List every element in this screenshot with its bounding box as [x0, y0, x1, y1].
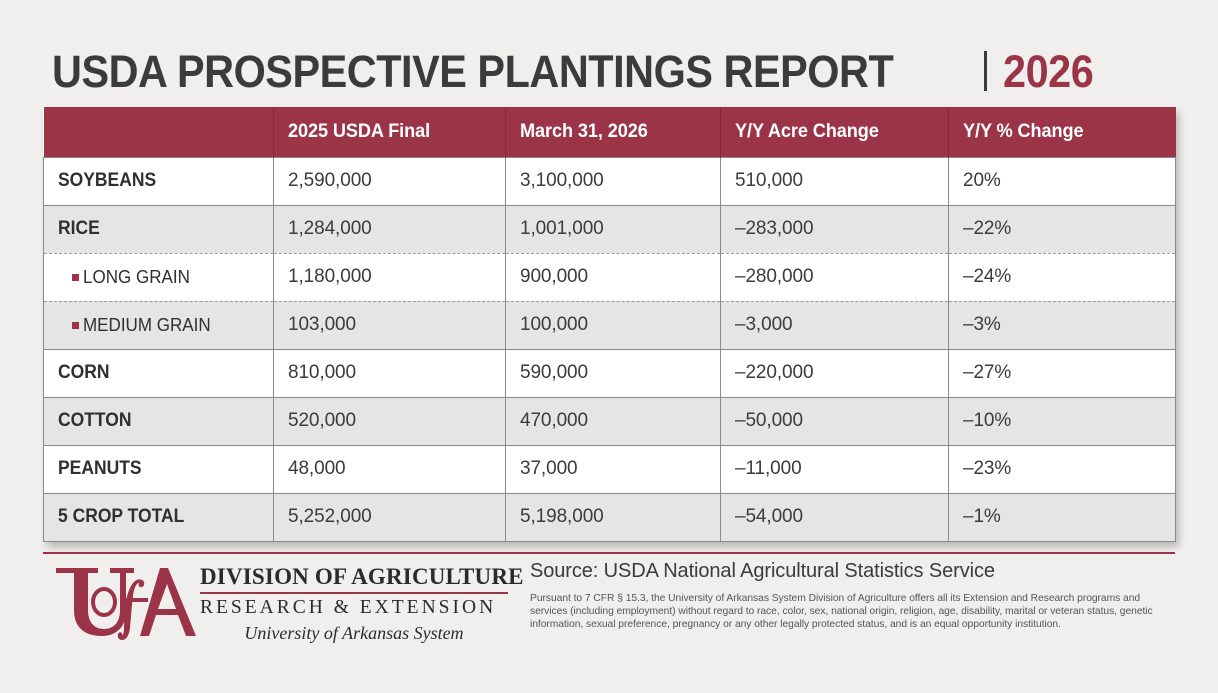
cell-final-2025: 810,000	[274, 349, 506, 397]
page-title-year: 2026	[1003, 49, 1093, 94]
row-label: CORN	[58, 362, 109, 384]
row-label-cell: MEDIUM GRAIN	[44, 301, 274, 349]
cell-pct-change: –27%	[949, 349, 1176, 397]
cell-final-2025: 1,180,000	[274, 253, 506, 301]
column-header-acre-change-label: Y/Y Acre Change	[735, 120, 879, 143]
cell-value: 1,001,000	[520, 218, 604, 240]
cell-value: 1,284,000	[288, 218, 372, 240]
logo-research-line: RESEARCH & EXTENSION	[200, 597, 510, 619]
table-header-row: 2025 USDA Final March 31, 2026 Y/Y Acre …	[44, 107, 1176, 157]
cell-value: –24%	[963, 266, 1011, 288]
cell-value: 1,180,000	[288, 266, 372, 288]
page-title: USDA PROSPECTIVE PLANTINGS REPORT 2026	[52, 44, 1172, 98]
logo-system-line: University of Arkansas System	[200, 623, 508, 644]
cell-value: 810,000	[288, 362, 356, 384]
source-line: Source: USDA National Agricultural Stati…	[530, 560, 1170, 583]
row-label: RICE	[58, 218, 100, 240]
cell-value: –283,000	[735, 218, 813, 240]
table-row: CORN 810,000 590,000 –220,000 –27%	[44, 349, 1176, 397]
cell-march-2026: 100,000	[506, 301, 721, 349]
cell-final-2025: 1,284,000	[274, 205, 506, 253]
cell-value: 2,590,000	[288, 170, 372, 192]
cell-value: –27%	[963, 362, 1011, 384]
cell-value: 5,198,000	[520, 506, 604, 528]
cell-value: 470,000	[520, 410, 588, 432]
cell-final-2025: 48,000	[274, 445, 506, 493]
cell-value: 20%	[963, 170, 1001, 192]
cell-value: 590,000	[520, 362, 588, 384]
cell-march-2026: 5,198,000	[506, 493, 721, 541]
row-label: 5 CROP TOTAL	[58, 506, 184, 528]
bullet-square-icon	[72, 274, 79, 281]
row-label: MEDIUM GRAIN	[83, 314, 211, 336]
cell-pct-change: –10%	[949, 397, 1176, 445]
table-row: SOYBEANS 2,590,000 3,100,000 510,000 20%	[44, 157, 1176, 205]
cell-value: –3,000	[735, 314, 793, 336]
table-row: PEANUTS 48,000 37,000 –11,000 –23%	[44, 445, 1176, 493]
cell-pct-change: –22%	[949, 205, 1176, 253]
cell-final-2025: 520,000	[274, 397, 506, 445]
row-label-cell: RICE	[44, 205, 274, 253]
column-header-pct-change-label: Y/Y % Change	[963, 120, 1083, 143]
cell-pct-change: –23%	[949, 445, 1176, 493]
uofa-logo: DIVISION OF AGRICULTURE RESEARCH & EXTEN…	[50, 560, 510, 645]
row-label-cell: SOYBEANS	[44, 157, 274, 205]
cell-value: –220,000	[735, 362, 813, 384]
cell-value: –11,000	[735, 458, 802, 480]
cell-acre-change: –283,000	[721, 205, 949, 253]
cell-value: –22%	[963, 218, 1011, 240]
logo-rule	[200, 592, 508, 594]
cell-value: –23%	[963, 458, 1011, 480]
row-label-cell: CORN	[44, 349, 274, 397]
cell-value: –54,000	[735, 506, 803, 528]
row-label-cell: COTTON	[44, 397, 274, 445]
row-label-cell: LONG GRAIN	[44, 253, 274, 301]
column-header-march-2026: March 31, 2026	[506, 107, 721, 157]
source-and-disclaimer: Source: USDA National Agricultural Stati…	[530, 560, 1170, 632]
row-label: SOYBEANS	[58, 170, 156, 192]
column-header-crop	[44, 107, 274, 157]
column-header-final-2025-label: 2025 USDA Final	[288, 120, 430, 143]
cell-pct-change: –24%	[949, 253, 1176, 301]
cell-value: –10%	[963, 410, 1011, 432]
cell-pct-change: 20%	[949, 157, 1176, 205]
page-title-main: USDA PROSPECTIVE PLANTINGS REPORT	[52, 49, 893, 94]
cell-march-2026: 900,000	[506, 253, 721, 301]
table-header: 2025 USDA Final March 31, 2026 Y/Y Acre …	[44, 107, 1176, 157]
cell-value: 900,000	[520, 266, 588, 288]
cell-value: –280,000	[735, 266, 813, 288]
cell-final-2025: 103,000	[274, 301, 506, 349]
cell-value: 5,252,000	[288, 506, 372, 528]
cell-final-2025: 5,252,000	[274, 493, 506, 541]
cell-value: 103,000	[288, 314, 356, 336]
cell-march-2026: 470,000	[506, 397, 721, 445]
row-label-cell: 5 CROP TOTAL	[44, 493, 274, 541]
row-label: LONG GRAIN	[83, 266, 190, 288]
cell-value: 37,000	[520, 458, 578, 480]
column-header-acre-change: Y/Y Acre Change	[721, 107, 949, 157]
report-table: 2025 USDA Final March 31, 2026 Y/Y Acre …	[43, 107, 1176, 542]
cell-acre-change: –11,000	[721, 445, 949, 493]
uofa-logo-text: DIVISION OF AGRICULTURE RESEARCH & EXTEN…	[200, 564, 510, 644]
bullet-square-icon	[72, 322, 79, 329]
table-row: LONG GRAIN 1,180,000 900,000 –280,000 –2…	[44, 253, 1176, 301]
cell-final-2025: 2,590,000	[274, 157, 506, 205]
column-header-pct-change: Y/Y % Change	[949, 107, 1176, 157]
cell-march-2026: 1,001,000	[506, 205, 721, 253]
cell-value: –3%	[963, 314, 1001, 336]
row-label-cell: PEANUTS	[44, 445, 274, 493]
cell-value: –1%	[963, 506, 1001, 528]
cell-acre-change: –220,000	[721, 349, 949, 397]
cell-value: 3,100,000	[520, 170, 604, 192]
cell-acre-change: 510,000	[721, 157, 949, 205]
row-label: COTTON	[58, 410, 131, 432]
cell-value: 510,000	[735, 170, 803, 192]
cell-acre-change: –280,000	[721, 253, 949, 301]
row-label: PEANUTS	[58, 458, 142, 480]
table-row: RICE 1,284,000 1,001,000 –283,000 –22%	[44, 205, 1176, 253]
table-body: SOYBEANS 2,590,000 3,100,000 510,000 20%…	[44, 157, 1176, 541]
cell-pct-change: –1%	[949, 493, 1176, 541]
report-table-container: 2025 USDA Final March 31, 2026 Y/Y Acre …	[43, 107, 1175, 542]
cell-acre-change: –50,000	[721, 397, 949, 445]
table-row: COTTON 520,000 470,000 –50,000 –10%	[44, 397, 1176, 445]
column-header-final-2025: 2025 USDA Final	[274, 107, 506, 157]
cell-march-2026: 590,000	[506, 349, 721, 397]
column-header-march-2026-label: March 31, 2026	[520, 120, 648, 143]
cell-value: –50,000	[735, 410, 803, 432]
report-page: USDA PROSPECTIVE PLANTINGS REPORT 2026 2…	[0, 0, 1218, 693]
cell-march-2026: 3,100,000	[506, 157, 721, 205]
logo-division-line: DIVISION OF AGRICULTURE	[200, 564, 510, 590]
table-row: MEDIUM GRAIN 103,000 100,000 –3,000 –3%	[44, 301, 1176, 349]
uofa-monogram-icon	[50, 562, 198, 642]
table-row-total: 5 CROP TOTAL 5,252,000 5,198,000 –54,000…	[44, 493, 1176, 541]
cell-value: 520,000	[288, 410, 356, 432]
cell-acre-change: –3,000	[721, 301, 949, 349]
footer-divider	[43, 552, 1175, 554]
cell-value: 48,000	[288, 458, 346, 480]
cell-pct-change: –3%	[949, 301, 1176, 349]
cell-acre-change: –54,000	[721, 493, 949, 541]
cell-march-2026: 37,000	[506, 445, 721, 493]
title-separator-icon	[984, 51, 987, 91]
disclaimer-text: Pursuant to 7 CFR § 15.3, the University…	[530, 592, 1170, 632]
cell-value: 100,000	[520, 314, 588, 336]
